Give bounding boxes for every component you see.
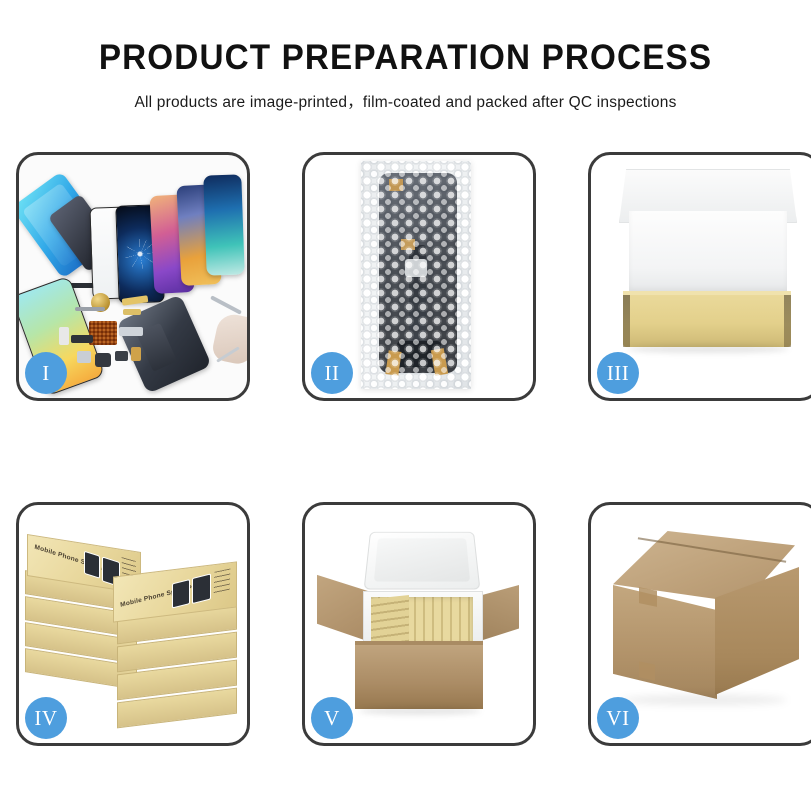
box-spec-lines-2 [214, 568, 231, 596]
tape-tab-1 [389, 179, 403, 191]
gold-box-front [623, 295, 791, 347]
step-badge-2: II [311, 352, 353, 394]
hand-holding-part [210, 311, 247, 366]
step-panel-5[interactable]: V [302, 502, 536, 746]
carton-front-panel [355, 645, 483, 709]
step-badge-4: IV [25, 697, 67, 739]
step-badge-3: III [597, 352, 639, 394]
flex-cable-part-3 [75, 307, 105, 311]
gold-boxes-inside-left [371, 595, 409, 647]
step-badge-1: I [25, 352, 67, 394]
styrofoam-lid-inner [374, 538, 470, 581]
carton-left-face [613, 585, 717, 699]
copper-grid-part [89, 321, 117, 345]
step-panel-2[interactable]: II [302, 152, 536, 401]
small-component-3 [95, 353, 111, 367]
sealed-carton-shadow [621, 695, 787, 705]
box-screen-image-1 [84, 551, 100, 579]
step-badge-6: VI [597, 697, 639, 739]
step-panel-6[interactable]: VI [588, 502, 811, 746]
lcd-driver-ic [405, 259, 427, 277]
small-component-4 [115, 351, 128, 361]
step-badge-5: V [311, 697, 353, 739]
small-component-2 [77, 351, 91, 363]
carton-shadow [359, 707, 481, 715]
box-corner-left [623, 295, 630, 347]
foam-sheet [629, 211, 787, 293]
box-screen-image-4 [192, 573, 211, 604]
small-component-1 [71, 335, 93, 343]
tape-tab-2 [401, 239, 415, 250]
carton-tape-patch-bottom [639, 661, 655, 680]
box-shadow [627, 345, 789, 353]
header: PRODUCT PREPARATION PROCESS All products… [0, 38, 811, 112]
teal-gradient-phone [203, 174, 244, 275]
page-title: PRODUCT PREPARATION PROCESS [20, 38, 790, 78]
styrofoam-lid [364, 532, 481, 590]
steps-row-bottom: Mobile Phone Spare Parts Mobile Phone Sp… [16, 502, 796, 746]
page-subtitle: All products are image-printed，film-coat… [0, 90, 811, 112]
flex-cable-part-4 [119, 327, 143, 336]
box-corner-right [784, 295, 791, 347]
step-panel-1[interactable]: I [16, 152, 250, 401]
box-screen-image-3 [172, 579, 190, 608]
steps-grid: I II [16, 152, 796, 746]
steps-row-top: I II [16, 152, 796, 401]
tweezers-tool [210, 295, 242, 314]
small-component-5 [131, 347, 141, 361]
step-panel-3[interactable]: III [588, 152, 811, 401]
flex-cable-part-2 [123, 309, 141, 315]
product-preparation-infographic: PRODUCT PREPARATION PROCESS All products… [0, 0, 811, 811]
small-component-6 [59, 327, 69, 345]
step-panel-4[interactable]: Mobile Phone Spare Parts Mobile Phone Sp… [16, 502, 250, 746]
box-stack: Mobile Phone Spare Parts Mobile Phone Sp… [25, 523, 241, 723]
